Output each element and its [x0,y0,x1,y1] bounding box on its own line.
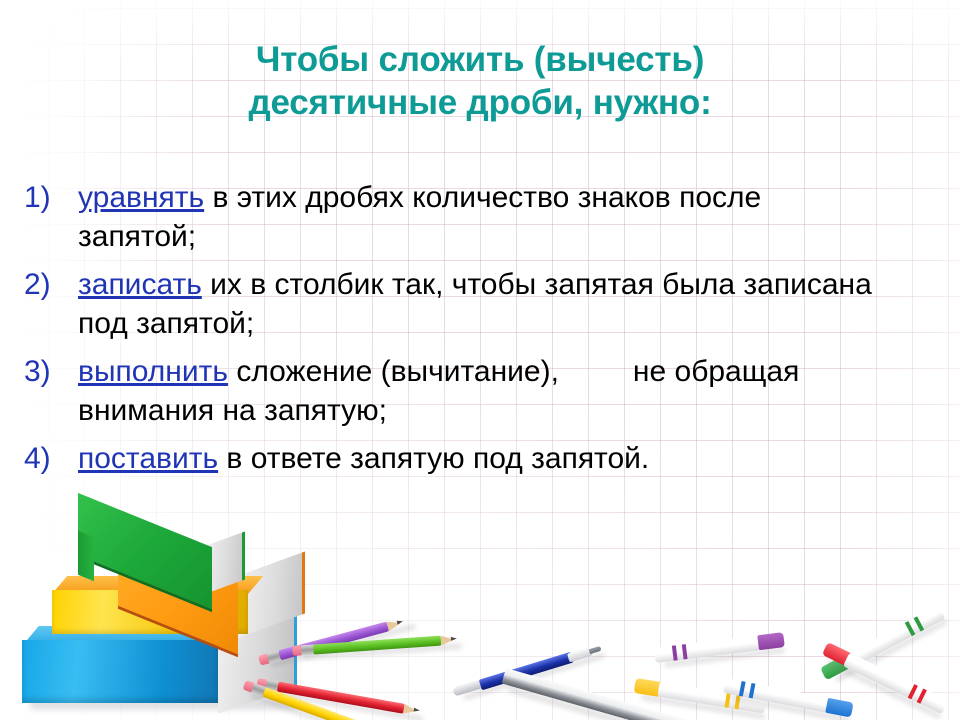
school-supplies-illustration [0,520,960,720]
step-number: 3) [18,352,78,391]
book-blue-bottom-icon [22,640,218,703]
list-item: 1) уравнять в этих дробях количество зна… [18,178,938,256]
book-green-spine-icon [78,531,94,581]
list-item: 2) записать их в столбик так, чтобы запя… [18,265,938,343]
step-number: 4) [18,439,78,478]
step-text-main: сложение (вычитание), [228,355,559,388]
list-item: 4) поставить в ответе запятую под запято… [18,439,938,478]
step-text: выполнить сложение (вычитание),не обраща… [78,352,878,430]
step-keyword: поставить [78,442,218,475]
slide-title-line-1: Чтобы сложить (вычесть) [60,38,900,81]
list-item: 3) выполнить сложение (вычитание),не обр… [18,352,938,430]
step-text: записать их в столбик так, чтобы запятая… [78,265,878,343]
step-text-main: в ответе запятую под запятой. [218,442,649,475]
step-text: поставить в ответе запятую под запятой. [78,439,878,478]
step-number: 2) [18,265,78,304]
step-keyword: уравнять [78,181,204,214]
step-keyword: записать [78,268,202,301]
slide-canvas: Чтобы сложить (вычесть) десятичные дроби… [0,0,960,720]
slide-title: Чтобы сложить (вычесть) десятичные дроби… [60,38,900,124]
step-text: уравнять в этих дробях количество знаков… [78,178,878,256]
step-number: 1) [18,178,78,217]
step-keyword: выполнить [78,355,228,388]
slide-title-line-2: десятичные дроби, нужно: [60,81,900,124]
numbered-steps-list: 1) уравнять в этих дробях количество зна… [18,178,938,487]
